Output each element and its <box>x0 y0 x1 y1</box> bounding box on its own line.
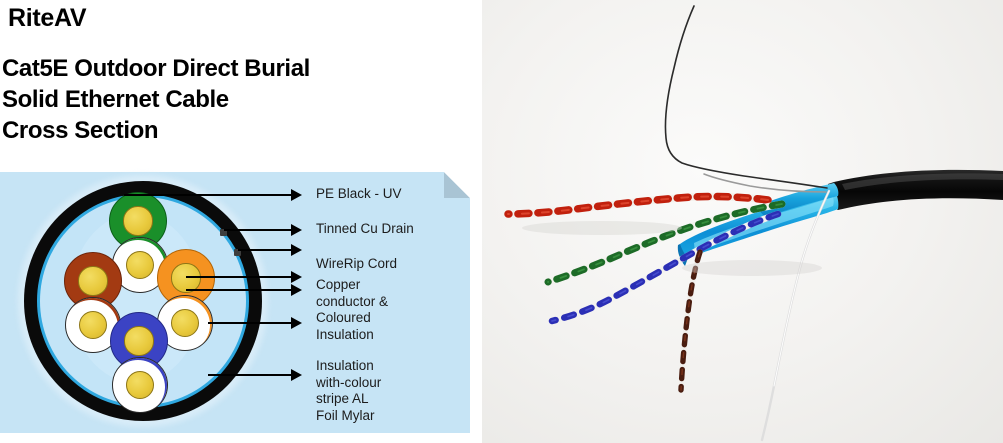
photo-shadow-foil <box>682 260 822 276</box>
title-line-1: Cat5E Outdoor Direct Burial <box>2 53 472 84</box>
cable-cross-section-drawing <box>18 175 268 427</box>
product-image: RiteAV Cat5E Outdoor Direct Burial Solid… <box>0 0 1003 443</box>
arrow-head-rip-cord <box>291 244 302 256</box>
label-tinned-cu-drain: Tinned Cu Drain <box>316 221 414 238</box>
arrow-head-drain <box>291 224 302 236</box>
leader-line-drain <box>224 229 292 231</box>
cable-photo-illustration <box>482 0 1003 443</box>
page-title: Cat5E Outdoor Direct Burial Solid Ethern… <box>2 53 472 146</box>
cable-photo <box>482 0 1003 443</box>
label-pe-black-uv: PE Black - UV <box>316 186 402 203</box>
photo-shadow-left <box>522 221 682 235</box>
cross-section-panel: PE Black - UV Tinned Cu Drain WireRip Co… <box>0 172 470 433</box>
panel-fold-shadow <box>444 172 470 198</box>
copper-core <box>79 311 107 339</box>
leader-line-foil-mylar <box>208 374 292 376</box>
leader-line-insulation <box>208 322 292 324</box>
leader-line-copper-b <box>186 289 292 291</box>
arrow-head-pe-black <box>291 189 302 201</box>
drain-wire-second <box>704 174 826 192</box>
conductor-blue-white <box>112 357 168 413</box>
leader-line-pe-black <box>124 194 292 196</box>
title-line-2: Solid Ethernet Cable <box>2 84 472 115</box>
brand-logo: RiteAV <box>8 4 86 33</box>
diagram-pane: RiteAV Cat5E Outdoor Direct Burial Solid… <box>0 0 482 443</box>
copper-core <box>123 206 152 235</box>
twisted-pair-orange-red <box>508 197 768 214</box>
arrow-head-insulation <box>291 317 302 329</box>
title-line-3: Cross Section <box>2 115 472 146</box>
copper-core <box>124 326 153 355</box>
copper-core <box>78 266 107 295</box>
label-insulation-foil-mylar: Insulation with-colour stripe AL Foil My… <box>316 358 381 424</box>
leader-line-rip-cord <box>238 249 292 251</box>
copper-core <box>126 371 154 399</box>
arrow-head-copper-b <box>291 284 302 296</box>
copper-core <box>126 251 154 279</box>
tinned-cu-drain-wire <box>665 6 827 188</box>
label-wire-rip-cord: WireRip Cord <box>316 256 397 273</box>
label-copper-conductor: Copper conductor & Coloured Insulation <box>316 277 388 343</box>
copper-core <box>171 309 199 337</box>
arrow-head-copper-a <box>291 271 302 283</box>
leader-line-copper-a <box>186 276 292 278</box>
arrow-head-foil-mylar <box>291 369 302 381</box>
